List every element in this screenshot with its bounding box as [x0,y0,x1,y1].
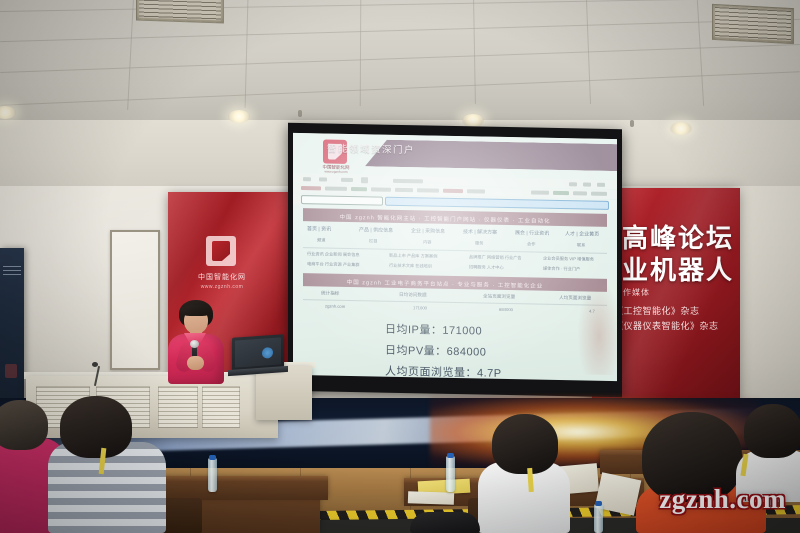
downlight-3 [462,114,484,127]
slide-table-cell-r0c1: 新品上市 产品库 方案案例 [389,253,437,260]
slide-menu-item-4[interactable]: 展会 | 行业资讯 [515,229,549,237]
slide-table-cell-r0c2: 品牌推广 网络营销 行业广告 [469,254,522,261]
ceiling-sensor-2 [630,120,634,127]
slide-menu-item-2[interactable]: 企业 | 采购信息 [411,227,445,235]
whiteboard [110,230,160,370]
slide-table-cell-r1c3: 媒体合作 · 行业门户 [543,266,580,273]
slide-menu-item-0[interactable]: 首页 | 资讯 [307,225,331,232]
downlight-2 [228,110,250,123]
slide-table-header-2: 内容 [423,239,431,245]
projection-screen-frame: 中国智能化网 www.zgznh.com 智能领域资深门户 [288,123,622,397]
audience-head-1 [0,400,48,450]
downlight-4 [670,122,692,135]
slide-robot-silhouette [577,278,617,375]
laptop-screen [235,337,281,367]
slide-summary-value-1: 171000 [413,305,427,310]
banner-left-brand: 中国智能化网 [186,272,258,282]
slide-table-header-0: 频道 [317,237,325,243]
slide-stat-daily-pv: 日均PV量：684000 [385,342,486,360]
slide-table-header-4: 合作 [527,241,535,247]
ceiling-sensor-1 [298,110,302,117]
watermark: zgznh.com [659,484,786,515]
slide-table-cell-r0c0: 行业资讯 企业新闻 展会信息 [307,251,360,258]
audience-head-5 [744,404,800,458]
slide-menu-item-3[interactable]: 技术 | 解决方案 [463,228,497,236]
water-bottle-2-cap [447,453,454,458]
slide-table-header-1: 栏目 [369,238,377,244]
audience-body-6 [410,512,480,533]
banner-left-url: www.zgznh.com [186,284,258,290]
slide-table-cell-r1c2: 招聘服务 人才中心 [469,264,504,271]
slide-stat-pages-per-user: 人均页面浏览量：4.7P [385,363,502,381]
slide-summary-header-1: 日均访问数据 [399,292,427,299]
audience-head-3 [492,414,558,474]
slide-header-tagline: 智能领域资深门户 [327,141,415,157]
slide-table-cell-r1c1: 行业技术文库 在线培训 [389,263,432,270]
presenter [160,300,230,384]
microphone-head-1 [92,362,98,367]
slide-summary-value-2: 684000 [499,307,513,312]
slide-summary-value-row: zgznh.com 171000 684000 4.7 [303,303,607,318]
water-bottle-1 [208,458,217,492]
projection-screen: 中国智能化网 www.zgznh.com 智能领域资深门户 [293,133,617,381]
conference-photo: 中国智能化网 www.zgznh.com 新高峰论坛 工业机器人 合作媒体 《工… [0,0,800,533]
audience-head-2 [60,396,132,458]
ceiling-vent-right [712,4,794,44]
slide-table-header-5: 联系 [577,242,585,248]
banner-right-partner-1: 《工控智能化》杂志 [614,304,700,317]
water-bottle-2 [446,456,455,492]
slide-table-cell-r1c0: 电商平台 行业资源 产业集群 [307,261,360,268]
slide-summary-value-0: zgznh.com [325,304,345,309]
water-bottle-3-cap [595,501,602,506]
ceiling-grid [0,0,800,128]
address-bar-field[interactable] [385,197,609,210]
address-bar[interactable] [301,195,383,206]
slide-summary-header-0: 统计指标 [321,290,339,296]
slide-table-header-3: 服务 [475,240,483,246]
banner-right-partner-2: 《仪器仪表智能化》杂志 [614,319,719,332]
water-bottle-1-cap [209,455,216,460]
slide-summary-header-2: 全站页面浏览量 [483,294,515,301]
desk-right [256,366,312,420]
slide-table-cell-r0c3: 企业会员服务 VIP 增值服务 [543,256,594,263]
slide-stat-daily-ip: 日均IP量：171000 [385,321,482,339]
banner-left-logo-icon [206,236,236,266]
slide-menu-item-1[interactable]: 产品 | 供应信息 [359,226,393,234]
ceiling-vent-left [136,0,224,24]
audience-paper-1 [408,491,454,505]
water-bottle-3 [594,504,603,533]
slide-menu-item-5[interactable]: 人才 | 企业黄页 [565,230,599,238]
